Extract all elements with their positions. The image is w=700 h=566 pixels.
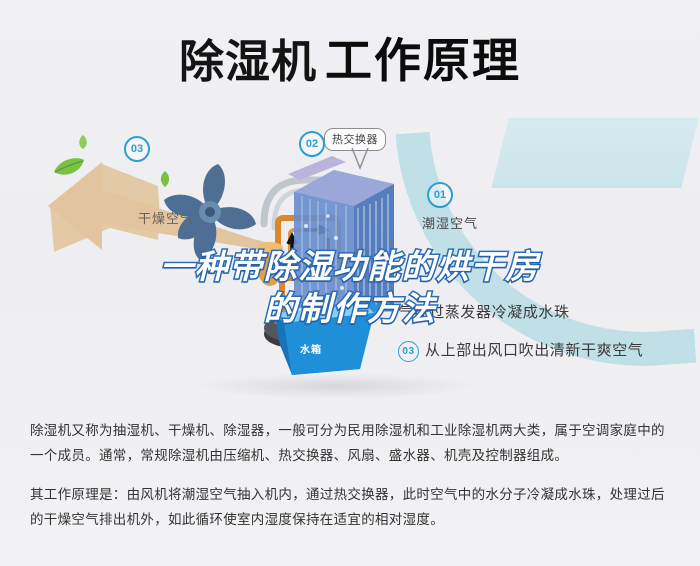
overlay-headline-line2: 的制作方法: [0, 288, 700, 330]
page-title-part1: 除湿机: [179, 36, 317, 87]
overlay-headline-line1: 一种带除湿功能的烘干房: [0, 246, 700, 288]
callout-pointer-icon: [349, 146, 371, 172]
body-copy: 除湿机又称为抽湿机、干燥机、除湿器，一般可分为民用除湿机和工业除湿机两大类，属于…: [30, 418, 675, 532]
step-badge-03: 03: [124, 136, 150, 162]
caption-step-03: 03从上部出风口吹出清新干爽空气: [398, 339, 643, 362]
infographic-page: 除湿机工作原理: [0, 0, 700, 566]
body-paragraph-2: 其工作原理是：由风机将潮湿空气抽入机内，通过热交换器，此时空气中的水分子冷凝成水…: [30, 482, 675, 532]
step-badge-01: 01: [427, 182, 453, 208]
leaf-icon: [76, 134, 90, 150]
humid-air-label: 潮湿空气: [422, 213, 478, 232]
page-title-part2: 工作原理: [325, 34, 521, 87]
leaf-icon: [52, 156, 86, 178]
dry-air-label: 干燥空气: [138, 208, 194, 227]
caption-step-03-text: 从上部出风口吹出清新干爽空气: [425, 342, 643, 359]
step-badge-02: 02: [299, 131, 325, 157]
page-title: 除湿机工作原理: [0, 22, 700, 91]
caption-step-03-badge: 03: [398, 341, 419, 362]
overlay-headline: 一种带除湿功能的烘干房 的制作方法: [0, 246, 700, 330]
water-tank-label: 水箱: [300, 341, 322, 356]
body-paragraph-1: 除湿机又称为抽湿机、干燥机、除湿器，一般可分为民用除湿机和工业除湿机两大类，属于…: [30, 418, 675, 468]
